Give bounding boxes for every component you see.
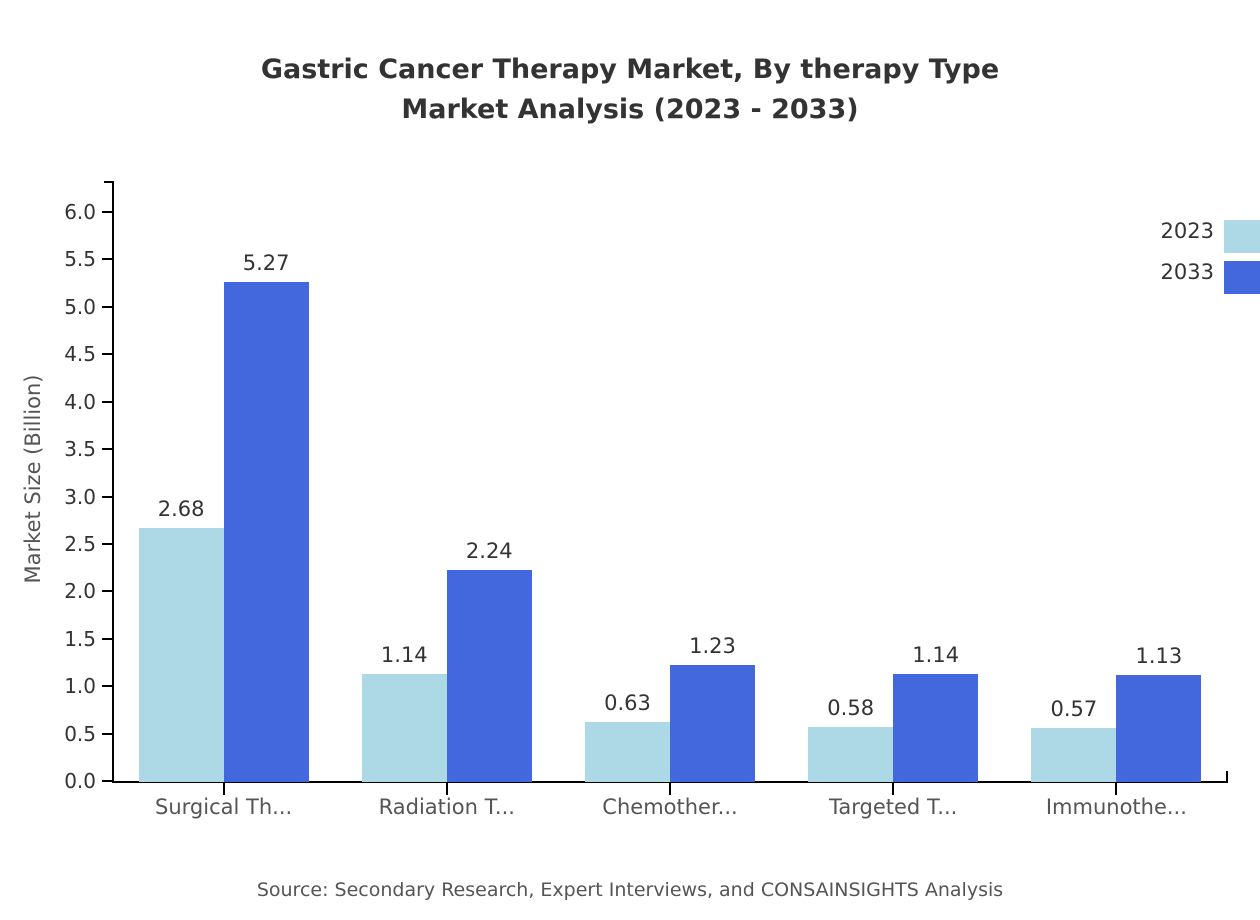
bar-value-label: 1.23 [653, 635, 773, 657]
x-axis-category-label: Immunothe... [1006, 794, 1226, 820]
chart-title-line-1: Gastric Cancer Therapy Market, By therap… [0, 50, 1260, 90]
x-axis-category-label: Chemother... [560, 794, 780, 820]
bar-2033-targeted-t-[interactable] [893, 674, 978, 782]
y-axis-tick-label: 2.5 [36, 534, 96, 554]
bar-2023-radiation-t-[interactable] [362, 674, 447, 782]
y-axis-tick-label: 6.0 [36, 202, 96, 222]
chart-title-line-2: Market Analysis (2023 - 2033) [0, 90, 1260, 130]
y-axis-tick-label: 4.0 [36, 392, 96, 412]
y-axis-tick-label: 1.0 [36, 676, 96, 696]
y-axis-tick-label: 2.0 [36, 581, 96, 601]
bar-2033-radiation-t-[interactable] [447, 570, 532, 782]
chart-container: Gastric Cancer Therapy Market, By therap… [0, 0, 1260, 920]
bar-value-label: 2.24 [429, 540, 549, 562]
y-axis-tick-label: 0.5 [36, 724, 96, 744]
x-axis-category-label: Targeted T... [783, 794, 1003, 820]
x-axis-category-label: Radiation T... [337, 794, 557, 820]
y-axis-tick-label: 5.5 [36, 249, 96, 269]
y-axis-tick-label: 4.5 [36, 344, 96, 364]
legend-label-2033: 2033 [1130, 259, 1214, 285]
bar-value-label: 5.27 [206, 252, 326, 274]
bar-value-label: 1.13 [1099, 645, 1219, 667]
bar-2023-targeted-t-[interactable] [808, 727, 893, 782]
y-axis-tick-label: 3.5 [36, 439, 96, 459]
y-axis-tick-label: 1.5 [36, 629, 96, 649]
bar-2033-surgical-th-[interactable] [224, 282, 309, 782]
legend-swatch-2023 [1224, 220, 1260, 253]
plot-area: 2.681.140.630.580.575.272.241.231.141.13 [112, 181, 1228, 782]
bar-2033-chemother-[interactable] [670, 665, 755, 782]
bar-2023-immunothe-[interactable] [1031, 728, 1116, 782]
legend-item-2033[interactable]: 2033 [1130, 256, 1260, 290]
legend-item-2023[interactable]: 2023 [1130, 215, 1260, 249]
source-footnote: Source: Secondary Research, Expert Inter… [0, 878, 1260, 902]
legend: 2023 2033 [1130, 215, 1260, 305]
bar-2023-surgical-th-[interactable] [139, 528, 224, 782]
y-axis-title: Market Size (Billion) [21, 199, 45, 759]
y-axis-tick-label: 5.0 [36, 297, 96, 317]
y-axis-tick-label: 3.0 [36, 487, 96, 507]
x-axis-category-label: Surgical Th... [114, 794, 334, 820]
chart-title: Gastric Cancer Therapy Market, By therap… [0, 50, 1260, 130]
legend-label-2023: 2023 [1130, 218, 1214, 244]
bar-2023-chemother-[interactable] [585, 722, 670, 782]
y-axis-tick-label: 0.0 [36, 771, 96, 791]
bar-2033-immunothe-[interactable] [1116, 675, 1201, 782]
legend-swatch-2033 [1224, 261, 1260, 294]
bar-value-label: 1.14 [876, 644, 996, 666]
